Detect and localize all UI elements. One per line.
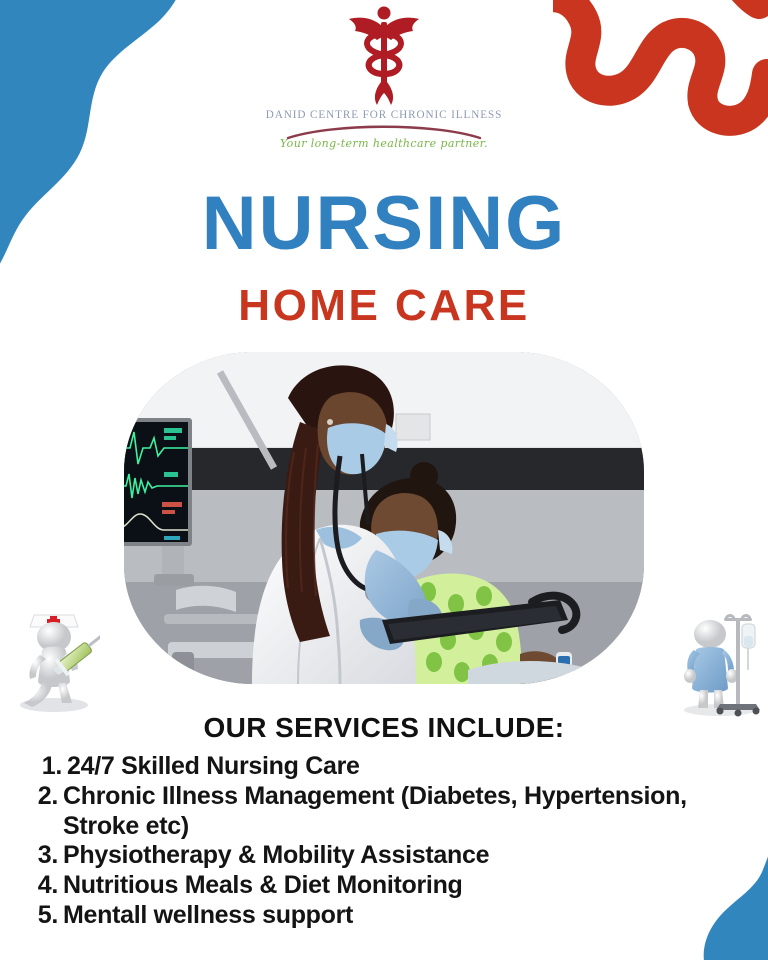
- patient-figure-with-iv-stand: [676, 592, 766, 717]
- page-subtitle-home-care: HOME CARE: [0, 284, 768, 328]
- tagline-wrapper: Your long-term healthcare partner.: [0, 122, 768, 162]
- list-item-number: 1.: [22, 752, 67, 782]
- page-title-nursing: NURSING: [0, 186, 768, 262]
- services-list: 1. 24/7 Skilled Nursing Care 2. Chronic …: [22, 752, 746, 931]
- list-item: 3. Physiotherapy & Mobility Assistance: [22, 841, 746, 871]
- list-item-text: Mentall wellness support: [63, 901, 746, 931]
- list-item: 2. Chronic Illness Management (Diabetes,…: [22, 782, 746, 842]
- nurse-with-patient-photo: [124, 352, 644, 684]
- list-item: 1. 24/7 Skilled Nursing Care: [22, 752, 746, 782]
- tagline-text: Your long-term healthcare partner.: [280, 137, 488, 150]
- list-item-text: 24/7 Skilled Nursing Care: [67, 752, 746, 782]
- list-item-text: Physiotherapy & Mobility Assistance: [63, 841, 746, 871]
- list-item: 5. Mentall wellness support: [22, 901, 746, 931]
- list-item-number: 4.: [22, 871, 63, 901]
- caduceus-icon: [341, 4, 427, 106]
- list-item-text: Nutritious Meals & Diet Monitoring: [63, 871, 746, 901]
- list-item-text: Chronic Illness Management (Diabetes, Hy…: [63, 782, 746, 842]
- list-item: 4. Nutritious Meals & Diet Monitoring: [22, 871, 746, 901]
- list-item-number: 5.: [22, 901, 63, 931]
- list-item-number: 3.: [22, 841, 63, 871]
- poster-canvas: DANID CENTRE FOR CHRONIC ILLNESS Your lo…: [0, 0, 768, 960]
- logo-block: DANID CENTRE FOR CHRONIC ILLNESS Your lo…: [0, 4, 768, 162]
- nurse-figure-with-syringe: [8, 585, 100, 713]
- list-item-number: 2.: [22, 782, 63, 812]
- services-heading: OUR SERVICES INCLUDE:: [0, 712, 768, 744]
- organization-name: DANID CENTRE FOR CHRONIC ILLNESS: [0, 109, 768, 121]
